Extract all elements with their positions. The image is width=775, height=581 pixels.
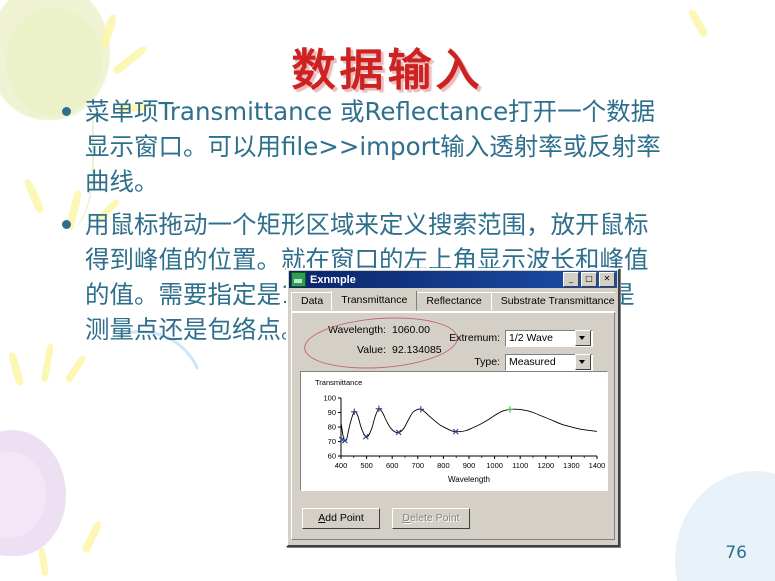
confetti-ray-icon (23, 178, 45, 214)
type-label: Type: (432, 356, 505, 368)
wavelength-label: Wavelength: (300, 324, 392, 336)
tab-data[interactable]: Data (291, 292, 333, 311)
bullet-dot-icon (62, 107, 71, 116)
dialog-titlebar[interactable]: Exnmple _ □ ✕ (289, 271, 617, 288)
slide-canvas: 数据输入 菜单项Transmittance 或Reflectance打开一个数据… (0, 0, 775, 581)
add-point-button[interactable]: Add Point (302, 508, 380, 529)
confetti-ray-icon (38, 548, 49, 577)
svg-text:60: 60 (328, 452, 336, 461)
svg-text:700: 700 (412, 461, 425, 470)
minimize-button[interactable]: _ (563, 272, 579, 287)
extremum-select[interactable]: 1/2 Wave (505, 330, 593, 347)
type-field-row: Type: Measured (432, 352, 593, 372)
chevron-down-icon[interactable] (575, 330, 591, 346)
type-select[interactable]: Measured (505, 354, 593, 371)
confetti-ray-icon (41, 344, 54, 383)
delete-point-label: elete Point (410, 512, 460, 524)
dialog-fields: Extremum: 1/2 Wave Type: Measured (432, 328, 593, 376)
blue-arc-decoration-2 (600, 470, 756, 581)
peak-readout-group: Wavelength: 1060.00 Value: 92.134085 Ext… (300, 320, 606, 364)
balloon-blue-decoration (675, 471, 775, 581)
tab-substrate-transmittance[interactable]: Substrate Transmittance (491, 292, 615, 311)
value-label: Value: (300, 344, 392, 356)
svg-text:100: 100 (323, 394, 336, 403)
svg-text:900: 900 (463, 461, 476, 470)
extremum-label: Extremum: (432, 332, 505, 344)
svg-text:80: 80 (328, 423, 336, 432)
svg-text:800: 800 (437, 461, 450, 470)
type-selected-value: Measured (506, 356, 575, 368)
bullet-text: 菜单项Transmittance 或Reflectance打开一个数据 显示窗口… (85, 94, 661, 199)
chevron-down-icon[interactable] (575, 354, 591, 370)
dialog-title: Exnmple (310, 274, 563, 286)
svg-text:500: 500 (360, 461, 373, 470)
svg-text:1400: 1400 (589, 461, 606, 470)
transmittance-chart[interactable]: Transmittance607080901004005006007008009… (301, 372, 607, 490)
confetti-ray-icon (7, 352, 24, 387)
svg-text:Transmittance: Transmittance (315, 378, 362, 387)
svg-text:1200: 1200 (537, 461, 554, 470)
bullet-dot-icon (62, 220, 71, 229)
dialog-button-row: Add Point Delete Point (302, 508, 470, 529)
svg-text:1000: 1000 (486, 461, 503, 470)
balloon-purple-highlight (0, 452, 46, 538)
app-icon (291, 272, 306, 287)
svg-text:400: 400 (335, 461, 348, 470)
close-button[interactable]: ✕ (599, 272, 615, 287)
svg-text:70: 70 (328, 437, 336, 446)
svg-text:1300: 1300 (563, 461, 580, 470)
extremum-selected-value: 1/2 Wave (506, 332, 575, 344)
transmittance-plot-panel[interactable]: Transmittance607080901004005006007008009… (300, 371, 608, 491)
window-controls: _ □ ✕ (563, 272, 615, 287)
svg-text:600: 600 (386, 461, 399, 470)
tab-reflectance[interactable]: Reflectance (416, 292, 491, 311)
bullet-item: 菜单项Transmittance 或Reflectance打开一个数据 显示窗口… (62, 94, 730, 199)
balloon-purple-decoration (0, 430, 66, 556)
delete-point-accel: D (402, 512, 410, 524)
svg-text:Wavelength: Wavelength (448, 475, 490, 484)
add-point-label: dd Point (325, 512, 364, 524)
example-dialog-window: Exnmple _ □ ✕ Data Transmittance Reflect… (286, 268, 620, 547)
confetti-ray-icon (81, 520, 103, 554)
page-number: 76 (725, 543, 747, 563)
svg-text:90: 90 (328, 408, 336, 417)
confetti-ray-icon (64, 355, 87, 384)
slide-title: 数据输入 (0, 34, 775, 98)
svg-text:1100: 1100 (512, 461, 528, 470)
delete-point-button[interactable]: Delete Point (392, 508, 470, 529)
maximize-button[interactable]: □ (581, 272, 597, 287)
transmittance-tab-page: Wavelength: 1060.00 Value: 92.134085 Ext… (291, 312, 615, 540)
extremum-field-row: Extremum: 1/2 Wave (432, 328, 593, 348)
tab-transmittance[interactable]: Transmittance (331, 291, 417, 311)
dialog-tabstrip: Data Transmittance Reflectance Substrate… (291, 291, 615, 312)
